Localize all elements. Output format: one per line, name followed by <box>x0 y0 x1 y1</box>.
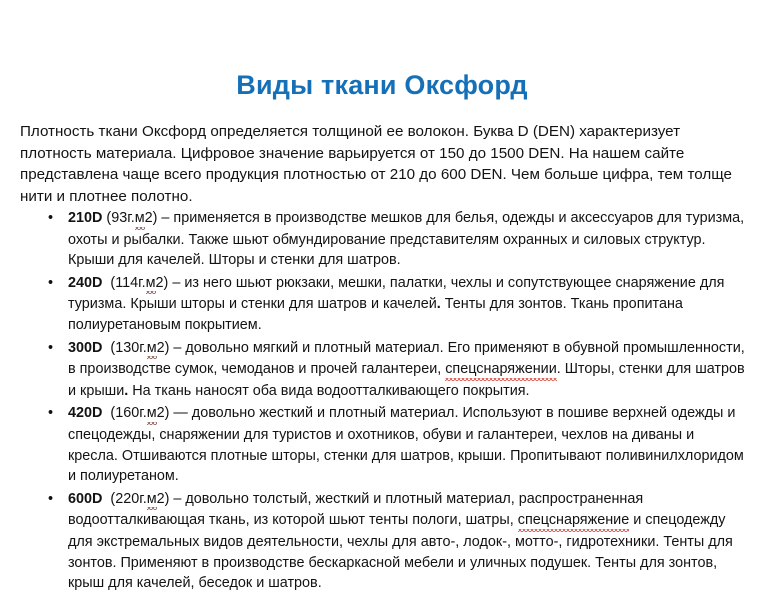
fabric-density-list: • 210D (93г.м2) – применяется в производ… <box>26 208 748 596</box>
weight-value: (93г.м2) <box>106 210 157 226</box>
page-title: Виды ткани Оксфорд <box>0 70 764 101</box>
spellcheck-flagged-text: м <box>135 208 145 230</box>
list-item: • 420D (160г.м2) — довольно жесткий и пл… <box>26 403 748 486</box>
weight-value: (160г.м2) <box>110 405 169 421</box>
spellcheck-flagged-text: м <box>147 489 157 511</box>
list-item: • 300D (130г.м2) – довольно мягкий и пло… <box>26 338 748 402</box>
weight-open: (114г. <box>110 275 145 291</box>
spellcheck-flagged-word: спецснаряжении <box>445 359 557 381</box>
spellcheck-flagged-word: спецснаряжение <box>518 510 629 532</box>
bullet-marker-icon: • <box>48 273 58 294</box>
list-item-text: — довольно жесткий и плотный материал. И… <box>68 405 744 484</box>
list-item: • 240D (114г.м2) – из него шьют рюкзаки,… <box>26 273 748 336</box>
weight-open: (130г. <box>110 340 146 356</box>
weight-value: (220г.м2) <box>110 491 169 507</box>
weight-close: 2) <box>156 275 169 291</box>
density-label: 240D <box>68 275 102 291</box>
density-label: 210D <box>68 210 102 226</box>
bullet-marker-icon: • <box>48 208 58 229</box>
weight-open: (220г. <box>110 491 146 507</box>
list-item: • 210D (93г.м2) – применяется в производ… <box>26 208 748 271</box>
list-item: • 600D (220г.м2) – довольно толстый, жес… <box>26 489 748 594</box>
weight-close: 2) <box>157 491 170 507</box>
list-item-text: – применяется в производстве мешков для … <box>68 210 744 268</box>
weight-close: 2) <box>157 405 170 421</box>
intro-paragraph: Плотность ткани Оксфорд определяется тол… <box>20 121 748 207</box>
document-page: Виды ткани Оксфорд Плотность ткани Оксфо… <box>0 0 764 616</box>
list-item-text-tail-2: На ткань наносят оба вида водоотталкиваю… <box>128 383 529 399</box>
bullet-marker-icon: • <box>48 403 58 424</box>
weight-open: (93г. <box>106 210 134 226</box>
weight-value: (114г.м2) <box>110 275 168 291</box>
weight-open: (160г. <box>110 405 146 421</box>
bullet-marker-icon: • <box>48 338 58 359</box>
bullet-marker-icon: • <box>48 489 58 510</box>
density-label: 600D <box>68 491 102 507</box>
density-label: 420D <box>68 405 102 421</box>
spellcheck-flagged-text: м <box>147 338 157 360</box>
weight-close: 2) <box>145 210 158 226</box>
weight-value: (130г.м2) <box>110 340 169 356</box>
density-label: 300D <box>68 340 102 356</box>
spellcheck-flagged-text: м <box>147 403 157 425</box>
spellcheck-flagged-text: м <box>146 273 156 295</box>
weight-close: 2) <box>157 340 170 356</box>
